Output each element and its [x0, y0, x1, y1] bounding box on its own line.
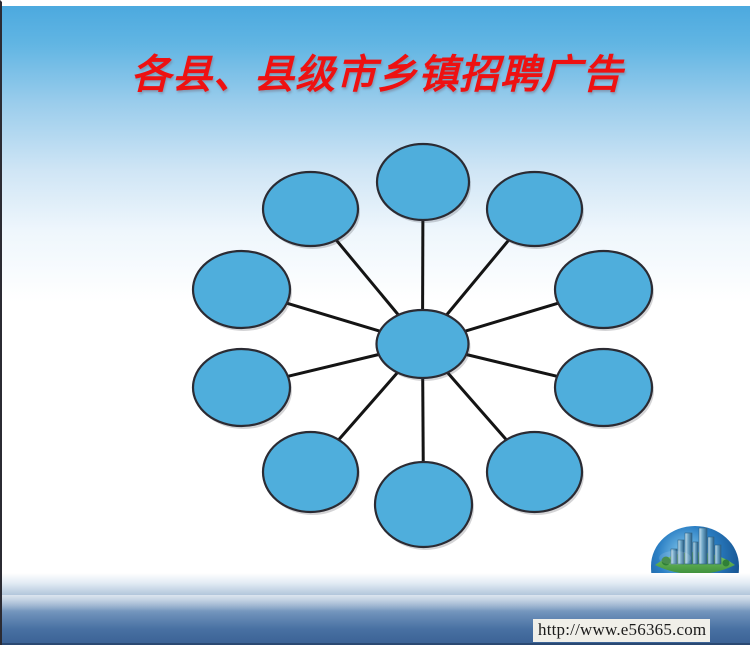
- diagram-node-6[interactable]: [375, 462, 474, 550]
- diagram-spoke: [288, 355, 379, 377]
- node-shape: [377, 310, 469, 378]
- diagram-nodes: [193, 144, 654, 550]
- diagram-spoke: [339, 373, 398, 440]
- diagram-spoke: [423, 378, 424, 462]
- diagram-spoke: [447, 373, 506, 440]
- node-shape: [555, 251, 652, 328]
- diagram-node-1[interactable]: [377, 144, 471, 223]
- slide-canvas: 各县、县级市乡镇招聘广告: [0, 0, 750, 645]
- node-shape: [375, 462, 472, 547]
- node-shape: [487, 432, 582, 512]
- diagram-node-2[interactable]: [487, 172, 584, 249]
- diagram-node-7[interactable]: [263, 432, 360, 515]
- diagram-spoke: [287, 303, 380, 331]
- diagram-center-node[interactable]: [377, 310, 471, 381]
- diagram-node-5[interactable]: [487, 432, 584, 515]
- diagram-node-3[interactable]: [555, 251, 654, 331]
- node-shape: [263, 172, 358, 246]
- radial-diagram: [2, 2, 750, 645]
- node-shape: [555, 349, 652, 426]
- node-shape: [487, 172, 582, 246]
- node-shape: [263, 432, 358, 512]
- diagram-node-8[interactable]: [193, 349, 292, 429]
- water-sheen: [2, 595, 750, 611]
- node-shape: [377, 144, 469, 220]
- diagram-spoke: [336, 240, 398, 315]
- diagram-node-10[interactable]: [263, 172, 360, 249]
- watermark-url: http://www.e56365.com: [533, 619, 710, 642]
- diagram-spoke: [465, 303, 558, 331]
- diagram-node-9[interactable]: [193, 251, 292, 331]
- node-shape: [193, 349, 290, 426]
- diagram-spoke: [466, 355, 557, 377]
- node-shape: [193, 251, 290, 328]
- diagram-node-4[interactable]: [555, 349, 654, 429]
- diagram-spoke: [447, 240, 509, 315]
